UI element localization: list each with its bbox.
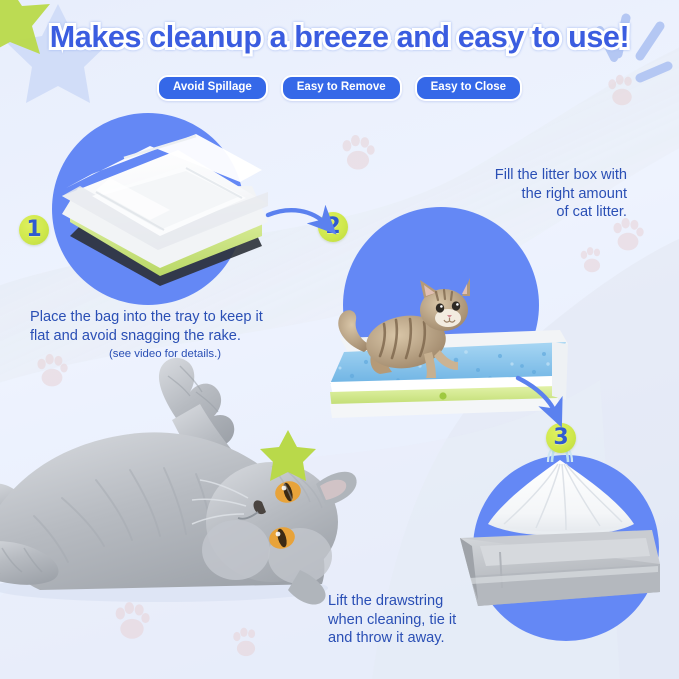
step-3-caption-line-2: when cleaning, tie it — [328, 611, 548, 630]
step-2-caption-line-1: Fill the litter box with — [357, 166, 627, 185]
step-1-caption-note: (see video for details.) — [30, 347, 300, 361]
step-3-caption: Lift the drawstring when cleaning, tie i… — [328, 592, 548, 648]
infographic-canvas: Makes cleanup a breeze and easy to use! … — [0, 0, 679, 679]
page-title: Makes cleanup a breeze and easy to use! — [50, 20, 629, 55]
feature-pill-row: Avoid Spillage Easy to Remove Easy to Cl… — [0, 75, 679, 101]
step-2-caption-line-2: the right amount — [357, 185, 627, 204]
headline-container: Makes cleanup a breeze and easy to use! — [0, 20, 679, 55]
step-2-caption-line-3: of cat litter. — [357, 203, 627, 222]
step-3-caption-line-1: Lift the drawstring — [328, 592, 548, 611]
step-1-caption-line-2: flat and avoid snagging the rake. — [30, 327, 330, 346]
step-1-caption-line-1: Place the bag into the tray to keep it — [30, 308, 330, 327]
step-1-caption: Place the bag into the tray to keep it f… — [30, 308, 330, 362]
pill-easy-to-close[interactable]: Easy to Close — [415, 75, 522, 101]
step-2-caption: Fill the litter box with the right amoun… — [357, 166, 627, 222]
arrow-step2-to-step3 — [518, 378, 556, 414]
step-3-caption-line-3: and throw it away. — [328, 629, 548, 648]
pill-avoid-spillage[interactable]: Avoid Spillage — [157, 75, 268, 101]
pill-easy-to-remove[interactable]: Easy to Remove — [281, 75, 402, 101]
arrow-step1-to-step2 — [268, 210, 326, 224]
